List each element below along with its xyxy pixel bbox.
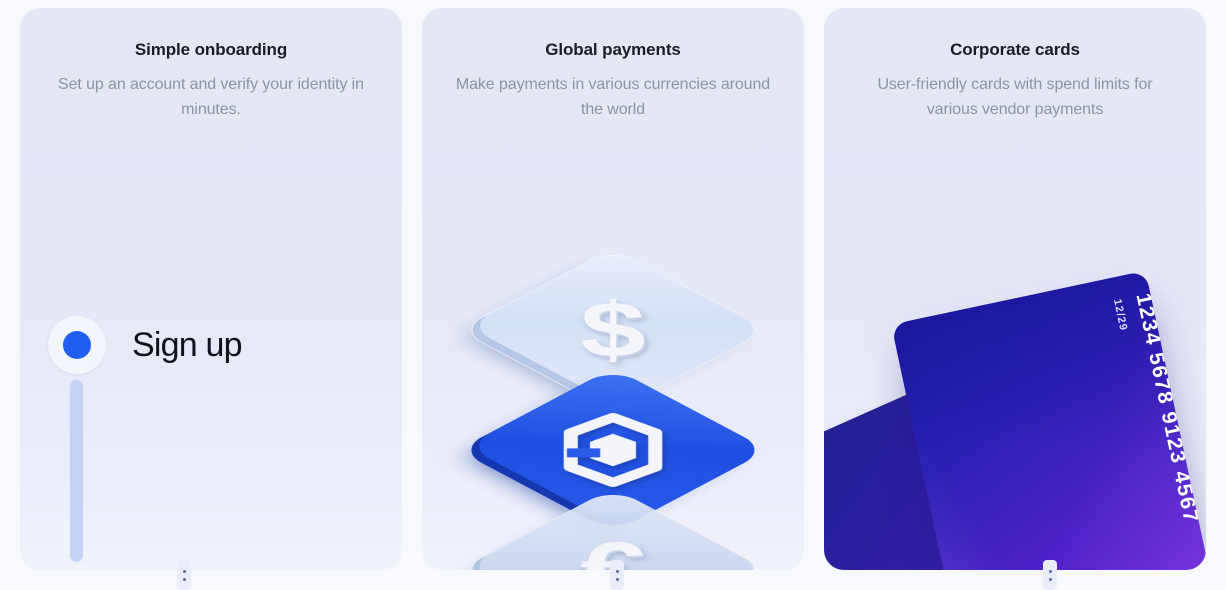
- connector-dot: [183, 570, 186, 573]
- flow-connector-handle[interactable]: [177, 560, 191, 590]
- card-number: 1234 5678 9123 4567: [1131, 291, 1203, 526]
- card-title: Simple onboarding: [46, 40, 376, 60]
- connector-dot: [616, 570, 619, 573]
- card-illustration-area: $ €: [422, 148, 804, 570]
- flow-connector-handle[interactable]: [610, 560, 624, 590]
- feature-card-simple-onboarding[interactable]: Simple onboarding Set up an account and …: [20, 8, 402, 570]
- card-header: Simple onboarding Set up an account and …: [20, 8, 402, 122]
- step-label: Sign up: [132, 326, 242, 365]
- connector-dot: [616, 578, 619, 581]
- step-radio-dot: [63, 331, 91, 359]
- card-description: User-friendly cards with spend limits fo…: [850, 72, 1180, 122]
- card-title: Corporate cards: [850, 40, 1180, 60]
- step-connector-line: [70, 380, 83, 562]
- connector-dot: [1049, 578, 1052, 581]
- connector-dot: [1049, 570, 1052, 573]
- dollar-symbol-icon: $: [580, 291, 646, 369]
- feature-card-global-payments[interactable]: Global payments Make payments in various…: [422, 8, 804, 570]
- bank-card-primary-face: ONESAFE 1234 5678 9123 4567 12/29: [891, 332, 1206, 570]
- onboarding-step-signup[interactable]: Sign up: [48, 316, 242, 374]
- card-expiry: 12/29: [1111, 298, 1130, 332]
- feature-card-corporate-cards[interactable]: Corporate cards User-friendly cards with…: [824, 8, 1206, 570]
- card-header: Corporate cards User-friendly cards with…: [824, 8, 1206, 122]
- corporate-cards-illustration: 1234 5678 9123 4567 12/29 ON: [824, 148, 1206, 570]
- card-illustration-area: 1234 5678 9123 4567 12/29 ON: [824, 148, 1206, 570]
- card-header: Global payments Make payments in various…: [422, 8, 804, 122]
- euro-tile: €: [457, 488, 768, 570]
- flow-connector-handle[interactable]: [1043, 560, 1057, 590]
- bank-card-primary: ONESAFE 1234 5678 9123 4567 12/29: [891, 271, 1206, 570]
- onesafe-hex-logo-icon: [549, 409, 677, 490]
- card-description: Make payments in various currencies arou…: [448, 72, 778, 122]
- card-illustration-area: Sign up: [20, 148, 402, 570]
- step-radio-icon[interactable]: [48, 316, 106, 374]
- connector-dot: [183, 578, 186, 581]
- stacked-currency-tiles-illustration: $ €: [422, 148, 804, 570]
- card-description: Set up an account and verify your identi…: [46, 72, 376, 122]
- feature-cards-board: Simple onboarding Set up an account and …: [0, 0, 1226, 590]
- card-title: Global payments: [448, 40, 778, 60]
